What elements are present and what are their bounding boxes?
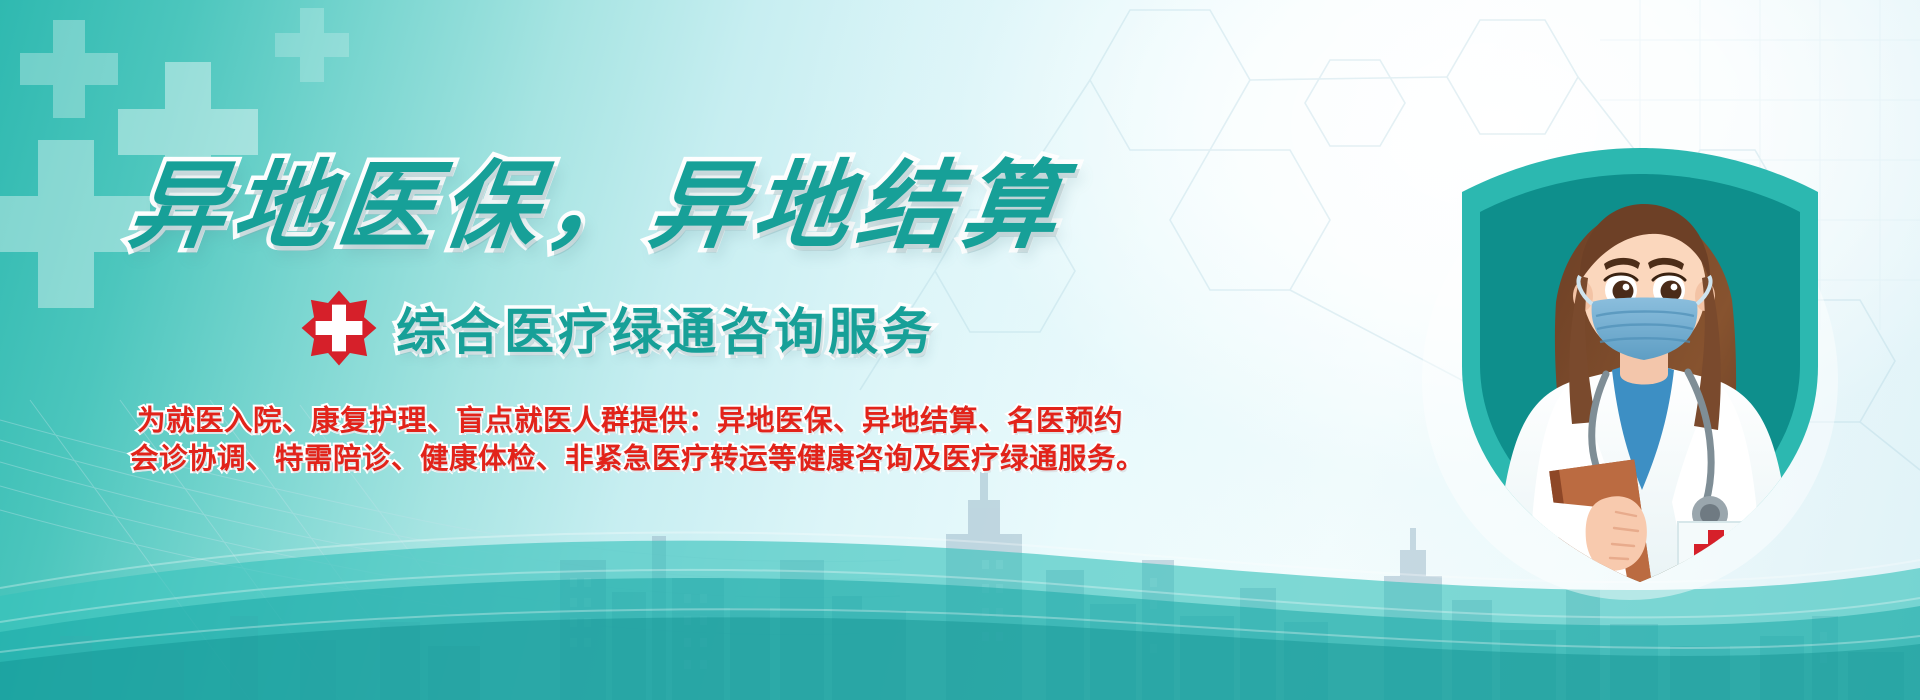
body-text-block: 为就医入院、康复护理、盲点就医人群提供：异地医保、异地结算、名医预约 会诊协调、… <box>130 403 1130 478</box>
page-title: 异地医保，异地结算 <box>123 150 1157 263</box>
body-line-1: 为就医入院、康复护理、盲点就医人群提供：异地医保、异地结算、名医预约 <box>130 403 1130 441</box>
banner-content: 异地医保，异地结算 综合医疗绿通咨询服务 为就医入院、康复护理、盲点就医人群提供… <box>130 150 1150 478</box>
female-doctor-illustration <box>1420 130 1860 600</box>
medical-service-banner: 异地医保，异地结算 综合医疗绿通咨询服务 为就医入院、康复护理、盲点就医人群提供… <box>0 0 1920 700</box>
body-line-2: 会诊协调、特需陪诊、健康体检、非紧急医疗转运等健康咨询及医疗绿通服务。 <box>130 441 1130 479</box>
red-cross-badge-icon <box>300 289 378 367</box>
subtitle-row: 综合医疗绿通咨询服务 <box>130 289 1150 367</box>
subtitle: 综合医疗绿通咨询服务 <box>396 292 936 364</box>
